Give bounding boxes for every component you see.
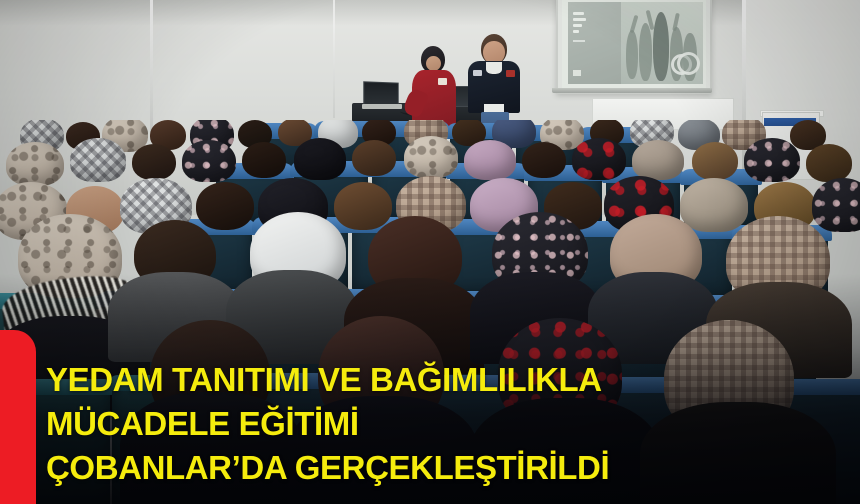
ceiling-shadow bbox=[0, 0, 860, 26]
attendee-headscarf bbox=[464, 140, 516, 180]
slide-raised-arm bbox=[629, 15, 638, 34]
attendee-head bbox=[806, 144, 852, 182]
attendee-head bbox=[132, 144, 176, 180]
attendee-head bbox=[334, 182, 392, 230]
attendee-head bbox=[352, 140, 396, 176]
news-thumbnail: YEDAM TANITIMI VE BAĞIMLILIKLA MÜCADELE … bbox=[0, 0, 860, 504]
headline-line-2: MÜCADELE EĞİTİMİ bbox=[46, 402, 844, 446]
attendee-headscarf bbox=[6, 142, 64, 186]
attendee-headscarf bbox=[744, 138, 800, 182]
attendee-head bbox=[692, 142, 738, 180]
projected-slide bbox=[562, 0, 706, 88]
attendee-headscarf bbox=[70, 138, 126, 182]
slide-text-panel bbox=[568, 2, 621, 85]
slide-figure bbox=[653, 12, 669, 81]
headline: YEDAM TANITIMI VE BAĞIMLILIKLA MÜCADELE … bbox=[46, 358, 844, 490]
attendee-head bbox=[196, 182, 254, 230]
attendee-headscarf bbox=[294, 138, 346, 180]
headline-line-1: YEDAM TANITIMI VE BAĞIMLILIKLA bbox=[46, 358, 844, 402]
projection-screen bbox=[556, 0, 712, 94]
attendee-headscarf bbox=[572, 138, 626, 180]
attendee-headscarf bbox=[632, 140, 684, 180]
attendee-head bbox=[522, 142, 566, 178]
name-badge bbox=[438, 78, 447, 85]
slide-figure bbox=[639, 23, 652, 81]
slide-figure bbox=[626, 30, 638, 80]
headline-line-3: ÇOBANLAR’DA GERÇEKLEŞTİRİLDİ bbox=[46, 446, 844, 490]
screen-bottom-bar bbox=[552, 88, 712, 93]
laptop-base bbox=[362, 104, 402, 109]
face bbox=[426, 56, 441, 71]
slide-rule bbox=[573, 40, 586, 42]
attendee-headscarf bbox=[182, 140, 236, 182]
attendee-headscarf bbox=[404, 136, 458, 178]
attendee-headscarf bbox=[812, 178, 860, 232]
collar bbox=[486, 62, 502, 74]
jacket-logo-left bbox=[473, 70, 482, 76]
slide-logo bbox=[573, 70, 582, 76]
slide-title-lines bbox=[573, 12, 587, 36]
slide-emblem bbox=[677, 52, 700, 75]
wall-seam bbox=[333, 0, 335, 118]
slide-photo-panel bbox=[621, 2, 703, 85]
accent-bar bbox=[0, 330, 36, 504]
jacket-logo-right bbox=[506, 70, 515, 77]
attendee-head bbox=[242, 142, 286, 178]
attendee-headscarf bbox=[680, 178, 748, 232]
wall-seam bbox=[150, 0, 153, 132]
